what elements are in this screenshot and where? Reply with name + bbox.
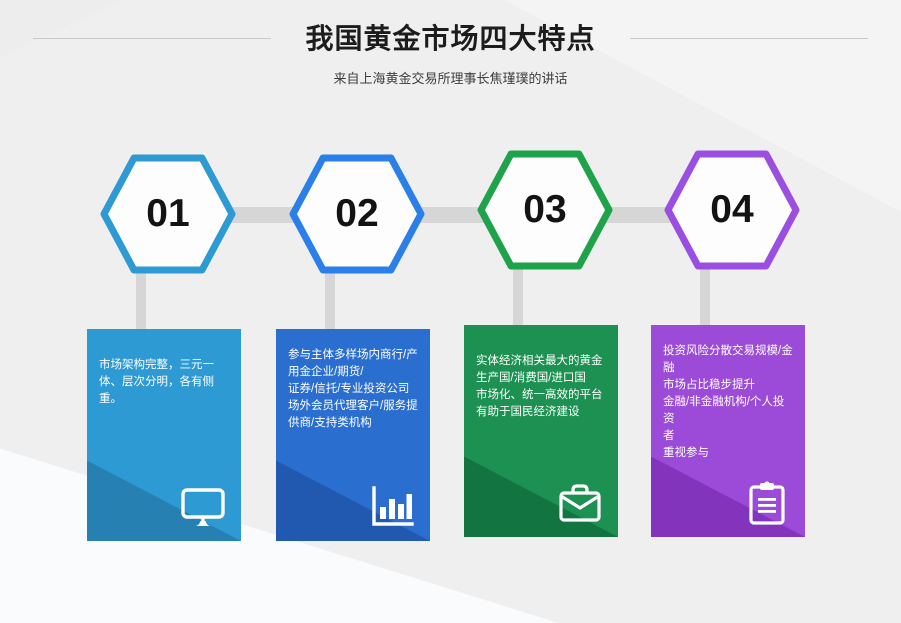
stage-02[interactable]: 02 参与主体多样场内商行/产 用金企业/期货/ 证券/信托/专业投资公司 场外… [262, 152, 452, 276]
hexagon-badge-03[interactable]: 03 [477, 148, 613, 272]
hexagon-badge-01[interactable]: 01 [100, 152, 236, 276]
header: 我国黄金市场四大特点 来自上海黄金交易所理事长焦瑾璞的讲话 [0, 0, 901, 110]
bar-chart-icon [368, 483, 416, 531]
stage-card[interactable]: 实体经济相关最大的黄金 生产国/消费国/进口国 市场化、统一高效的平台 有助于国… [464, 325, 618, 537]
page-title: 我国黄金市场四大特点 [0, 21, 901, 57]
stage-card[interactable]: 投资风险分散交易规模/金融 市场占比稳步提升 金融/非金融机构/个人投资 者 重… [651, 325, 805, 537]
briefcase-icon [556, 479, 604, 527]
hexagon-icon [664, 148, 800, 272]
hexagon-icon [477, 148, 613, 272]
stage-card[interactable]: 市场架构完整，三元一 体、层次分明，各有侧 重。 [87, 329, 241, 541]
monitor-icon [179, 483, 227, 531]
hexagon-icon [100, 152, 236, 276]
card-text: 实体经济相关最大的黄金 生产国/消费国/进口国 市场化、统一高效的平台 有助于国… [476, 353, 608, 421]
stage-01[interactable]: 01 市场架构完整，三元一 体、层次分明，各有侧 重。 [73, 152, 263, 276]
hexagon-badge-02[interactable]: 02 [289, 152, 425, 276]
clipboard-icon [743, 479, 791, 527]
page-subtitle: 来自上海黄金交易所理事长焦瑾璞的讲话 [0, 70, 901, 88]
hexagon-icon [289, 152, 425, 276]
card-text: 投资风险分散交易规模/金融 市场占比稳步提升 金融/非金融机构/个人投资 者 重… [663, 343, 795, 462]
card-text: 市场架构完整，三元一 体、层次分明，各有侧 重。 [99, 357, 231, 408]
stage-card[interactable]: 参与主体多样场内商行/产 用金企业/期货/ 证券/信托/专业投资公司 场外会员代… [276, 329, 430, 541]
card-text: 参与主体多样场内商行/产 用金企业/期货/ 证券/信托/专业投资公司 场外会员代… [288, 347, 420, 432]
stage-03[interactable]: 03 实体经济相关最大的黄金 生产国/消费国/进口国 市场化、统一高效的平台 有… [450, 148, 640, 272]
hexagon-badge-04[interactable]: 04 [664, 148, 800, 272]
stage-04[interactable]: 04 投资风险分散交易规模/金融 市场占比稳步提升 金融/非金融机构/个人投资 … [637, 148, 827, 272]
